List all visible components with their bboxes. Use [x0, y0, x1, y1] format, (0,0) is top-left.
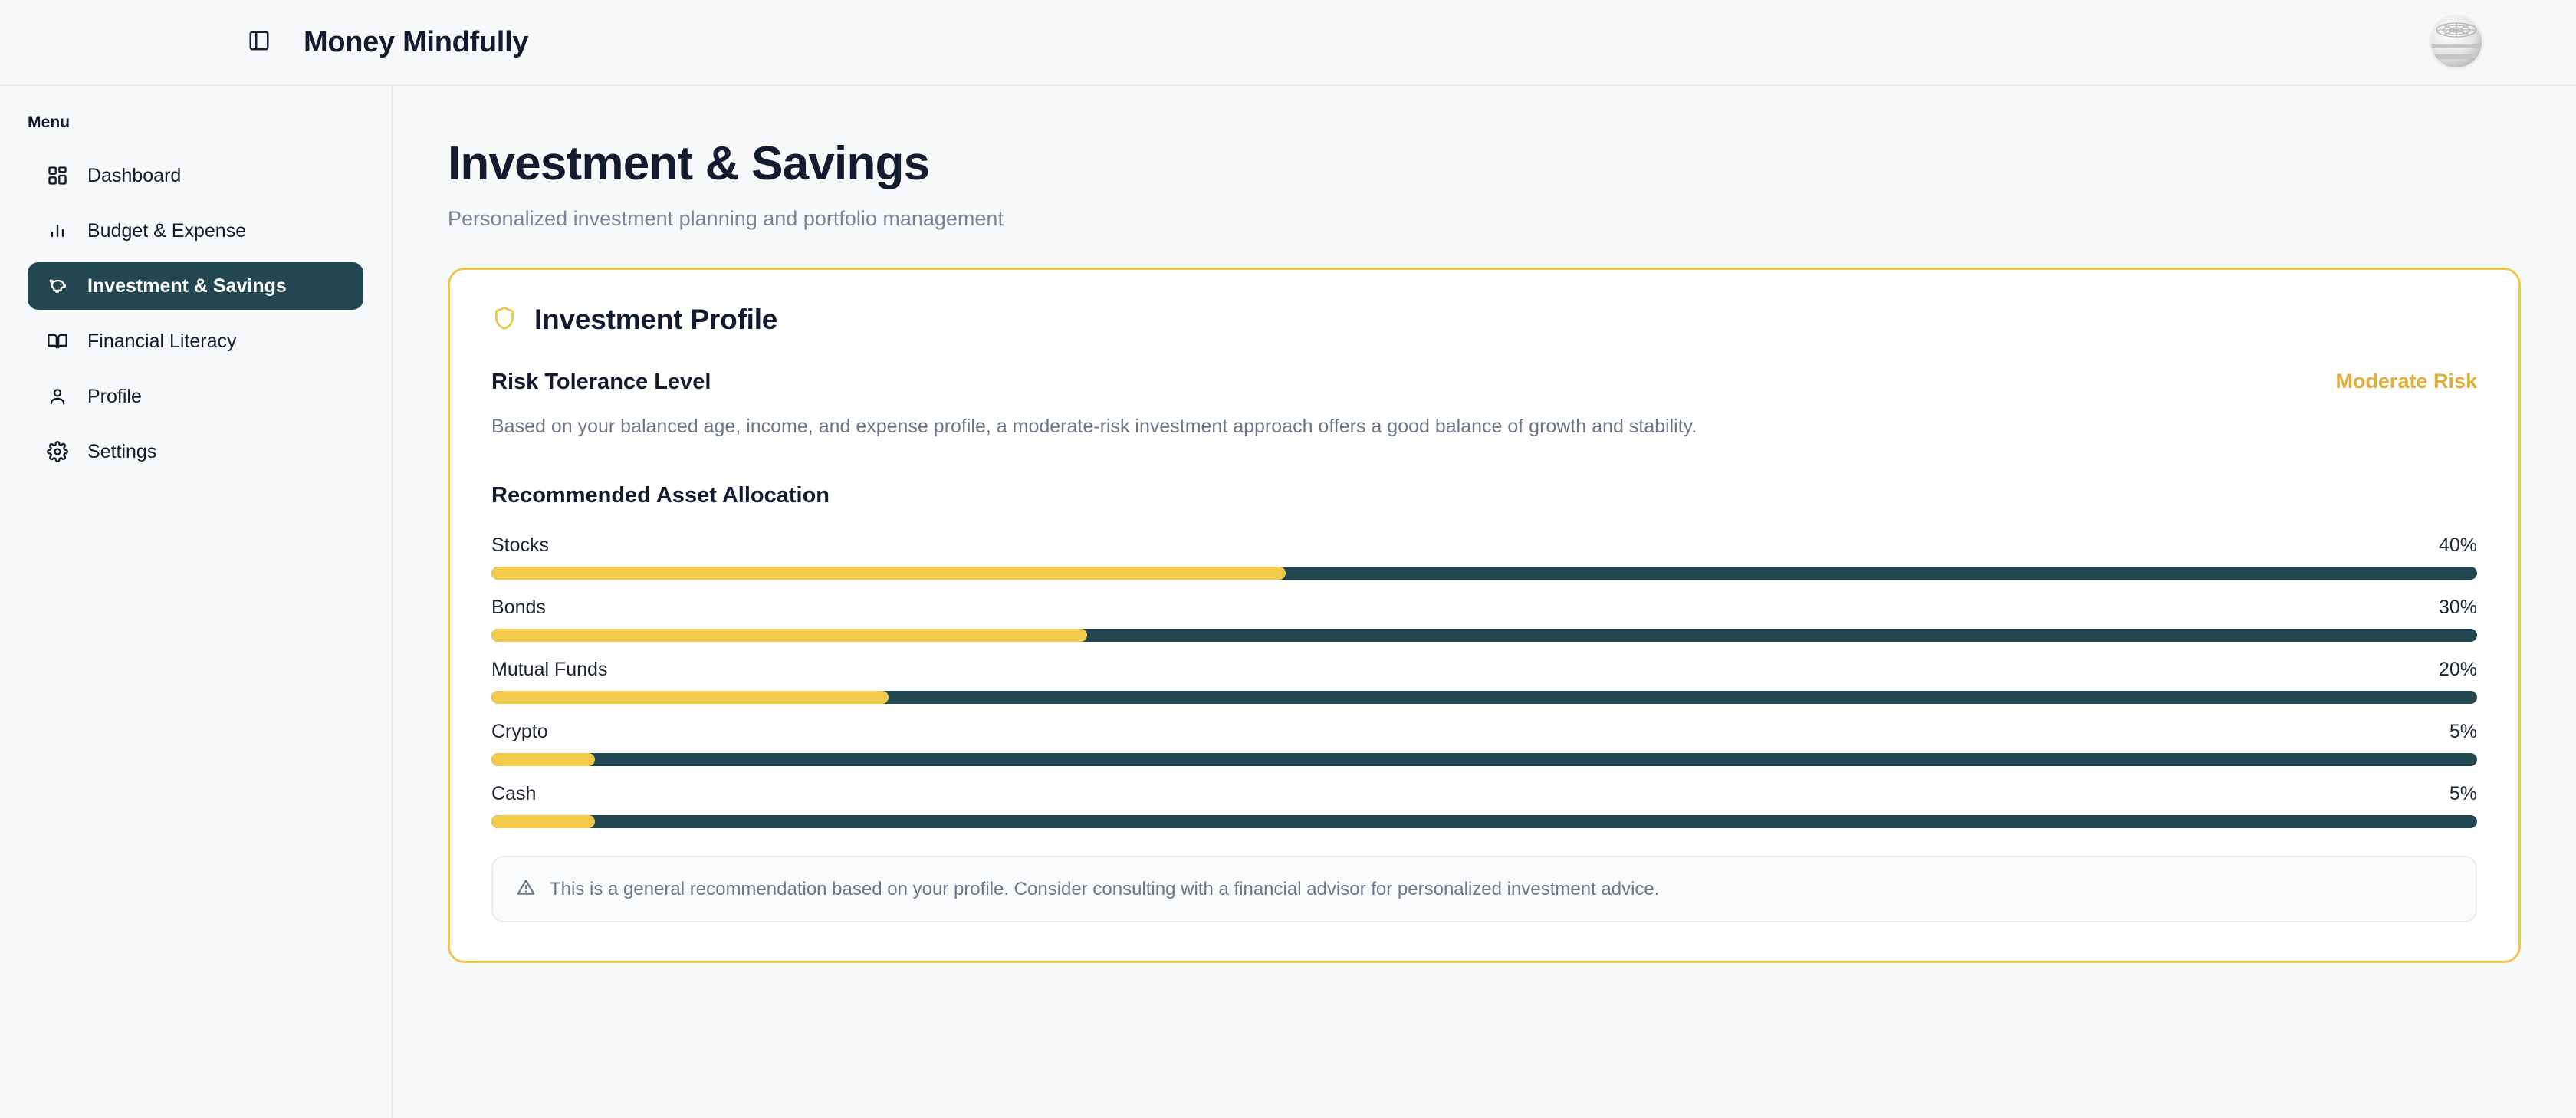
- allocation-progress-track: [491, 567, 2477, 580]
- sidebar-item-label: Investment & Savings: [87, 275, 287, 298]
- risk-tolerance-row: Risk Tolerance Level Moderate Risk: [491, 370, 2477, 395]
- allocation-row: Mutual Funds 20%: [491, 659, 2477, 704]
- allocation-value: 40%: [2439, 534, 2477, 557]
- allocation-label: Mutual Funds: [491, 659, 607, 681]
- sidebar-item-label: Dashboard: [87, 165, 181, 187]
- allocation-label: Bonds: [491, 597, 546, 619]
- body-row: Menu Dashboard: [0, 86, 2576, 1118]
- allocation-label: Stocks: [491, 534, 549, 557]
- top-bar: Money Mindfully: [0, 0, 2576, 86]
- grid-icon: [44, 163, 71, 189]
- allocation-list: Stocks 40% Bonds 30%: [491, 534, 2477, 828]
- sidebar-section-label: Menu: [0, 113, 391, 132]
- sidebar-item-budget-expense[interactable]: Budget & Expense: [28, 207, 363, 255]
- sidebar-item-financial-literacy[interactable]: Financial Literacy: [28, 317, 363, 365]
- sidebar: Menu Dashboard: [0, 86, 393, 1118]
- sidebar-item-dashboard[interactable]: Dashboard: [28, 152, 363, 199]
- card-header: Investment Profile: [491, 304, 2477, 336]
- sidebar-item-label: Settings: [87, 441, 156, 463]
- gear-icon: [44, 439, 71, 465]
- sidebar-item-investment-savings[interactable]: Investment & Savings: [28, 262, 363, 310]
- disclaimer-note: This is a general recommendation based o…: [491, 856, 2477, 922]
- page-title: Investment & Savings: [448, 138, 2521, 190]
- allocation-progress-track: [491, 691, 2477, 704]
- page-subtitle: Personalized investment planning and por…: [448, 207, 2521, 231]
- allocation-label: Crypto: [491, 721, 548, 743]
- allocation-row: Stocks 40%: [491, 534, 2477, 580]
- allocation-progress-fill: [491, 691, 889, 704]
- main-content: Investment & Savings Personalized invest…: [393, 86, 2576, 1118]
- allocation-value: 5%: [2449, 783, 2477, 805]
- card-title: Investment Profile: [534, 304, 777, 336]
- book-open-icon: [44, 328, 71, 354]
- allocation-progress-track: [491, 753, 2477, 766]
- risk-description: Based on your balanced age, income, and …: [491, 413, 2477, 440]
- sidebar-panel-icon: [248, 29, 271, 56]
- sidebar-item-profile[interactable]: Profile: [28, 373, 363, 420]
- sidebar-item-label: Financial Literacy: [87, 330, 237, 353]
- sidebar-item-label: Budget & Expense: [87, 220, 246, 242]
- allocation-progress-fill: [491, 567, 1286, 580]
- allocation-row: Cash 5%: [491, 783, 2477, 828]
- allocation-progress-track: [491, 815, 2477, 828]
- piggy-bank-icon: [44, 273, 71, 299]
- warning-triangle-icon: [516, 877, 536, 901]
- allocation-progress-fill: [491, 753, 595, 766]
- brand-title: Money Mindfully: [304, 26, 528, 59]
- allocation-heading: Recommended Asset Allocation: [491, 483, 2477, 508]
- sidebar-item-label: Profile: [87, 386, 142, 408]
- allocation-row: Bonds 30%: [491, 597, 2477, 642]
- user-icon: [44, 383, 71, 409]
- investment-profile-card: Investment Profile Risk Tolerance Level …: [448, 268, 2521, 963]
- allocation-row: Crypto 5%: [491, 721, 2477, 766]
- allocation-progress-fill: [491, 629, 1087, 642]
- allocation-progress-track: [491, 629, 2477, 642]
- allocation-value: 5%: [2449, 721, 2477, 743]
- user-avatar-image: [2429, 15, 2484, 70]
- allocation-value: 20%: [2439, 659, 2477, 681]
- app-root: Money Mindfully: [0, 0, 2576, 1118]
- sidebar-toggle-button[interactable]: [239, 22, 279, 62]
- allocation-progress-fill: [491, 815, 595, 828]
- bar-chart-icon: [44, 218, 71, 244]
- shield-icon: [491, 305, 517, 335]
- risk-level-badge: Moderate Risk: [2335, 370, 2477, 393]
- allocation-value: 30%: [2439, 597, 2477, 619]
- risk-tolerance-heading: Risk Tolerance Level: [491, 370, 711, 395]
- avatar[interactable]: [2429, 15, 2484, 70]
- allocation-label: Cash: [491, 783, 536, 805]
- sidebar-item-settings[interactable]: Settings: [28, 428, 363, 475]
- disclaimer-text: This is a general recommendation based o…: [550, 879, 1659, 900]
